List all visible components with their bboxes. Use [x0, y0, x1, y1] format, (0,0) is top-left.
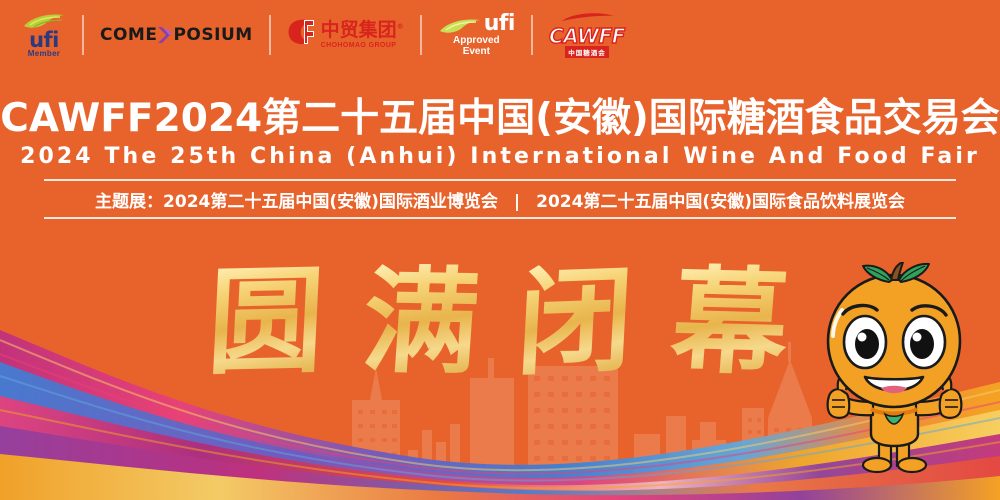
ufi-approved-sub2: Event [463, 47, 490, 57]
comexposium-logo[interactable]: COME POSIUM [100, 9, 253, 61]
calligraphy-char-4: 幕 [668, 263, 793, 382]
zhongmao-group-logo[interactable]: 中贸集团® CHOHOMAO GROUP [287, 9, 404, 61]
cawff-logo[interactable]: CAWFF 中国糖酒会 [549, 9, 625, 61]
comexposium-x-icon [157, 26, 173, 44]
theme-line: 主题展：2024第二十五届中国(安徽)国际酒业博览会|2024第二十五届中国(安… [95, 187, 905, 212]
ufi-approved-wing-icon [438, 18, 482, 34]
page-title-cn: CAWFF2024第二十五届中国(安徽)国际糖酒食品交易会 [0, 99, 1000, 138]
zhongmao-en-name: CHOHOMAO GROUP [321, 42, 404, 49]
calligraphy-headline: 圆 满 闭 幕 [208, 252, 788, 392]
ufi-approved-word: ufi [484, 13, 515, 35]
cawff-swoosh-icon [558, 12, 616, 24]
cawff-sub: 中国糖酒会 [565, 46, 609, 58]
comexposium-part2: POSIUM [173, 25, 252, 45]
calligraphy-char-1: 圆 [205, 263, 327, 381]
sponsor-logo-bar: ufi Member COME POSIUM [0, 0, 1000, 70]
zhongmao-emblem-icon [287, 18, 317, 52]
logo-divider-4 [531, 15, 533, 55]
logo-divider-3 [420, 15, 422, 55]
ufi-member-sub: Member [28, 50, 60, 58]
theme-exhibitions-bar: 主题展：2024第二十五届中国(安徽)国际酒业博览会|2024第二十五届中国(安… [44, 179, 956, 219]
comexposium-part1: COME [100, 25, 157, 45]
poster-canvas: ufi Member COME POSIUM [0, 0, 1000, 500]
ufi-approved-event-logo[interactable]: ufi Approved Event [438, 9, 515, 61]
registered-mark: ® [397, 23, 404, 31]
theme-item-2: 2024第二十五届中国(安徽)国际食品饮料展览会 [536, 192, 905, 212]
calligraphy-char-3: 闭 [514, 262, 636, 382]
calligraphy-char-2: 满 [359, 263, 483, 381]
theme-label: 主题展： [95, 192, 163, 212]
logo-divider-2 [269, 15, 271, 55]
ufi-member-word: ufi [29, 30, 59, 51]
ufi-member-logo[interactable]: ufi Member [22, 9, 66, 61]
zhongmao-cn-name: 中贸集团® [321, 21, 404, 40]
theme-separator: | [498, 192, 536, 212]
cawff-word: CAWFF [549, 24, 625, 48]
theme-item-1: 2024第二十五届中国(安徽)国际酒业博览会 [163, 192, 498, 212]
logo-divider-1 [82, 15, 84, 55]
page-title-en: 2024 The 25th China (Anhui) Internationa… [0, 146, 1000, 168]
orange-fruit-mascot [793, 262, 998, 477]
ufi-wing-icon [22, 13, 66, 29]
ufi-approved-sub1: Approved [453, 36, 500, 46]
